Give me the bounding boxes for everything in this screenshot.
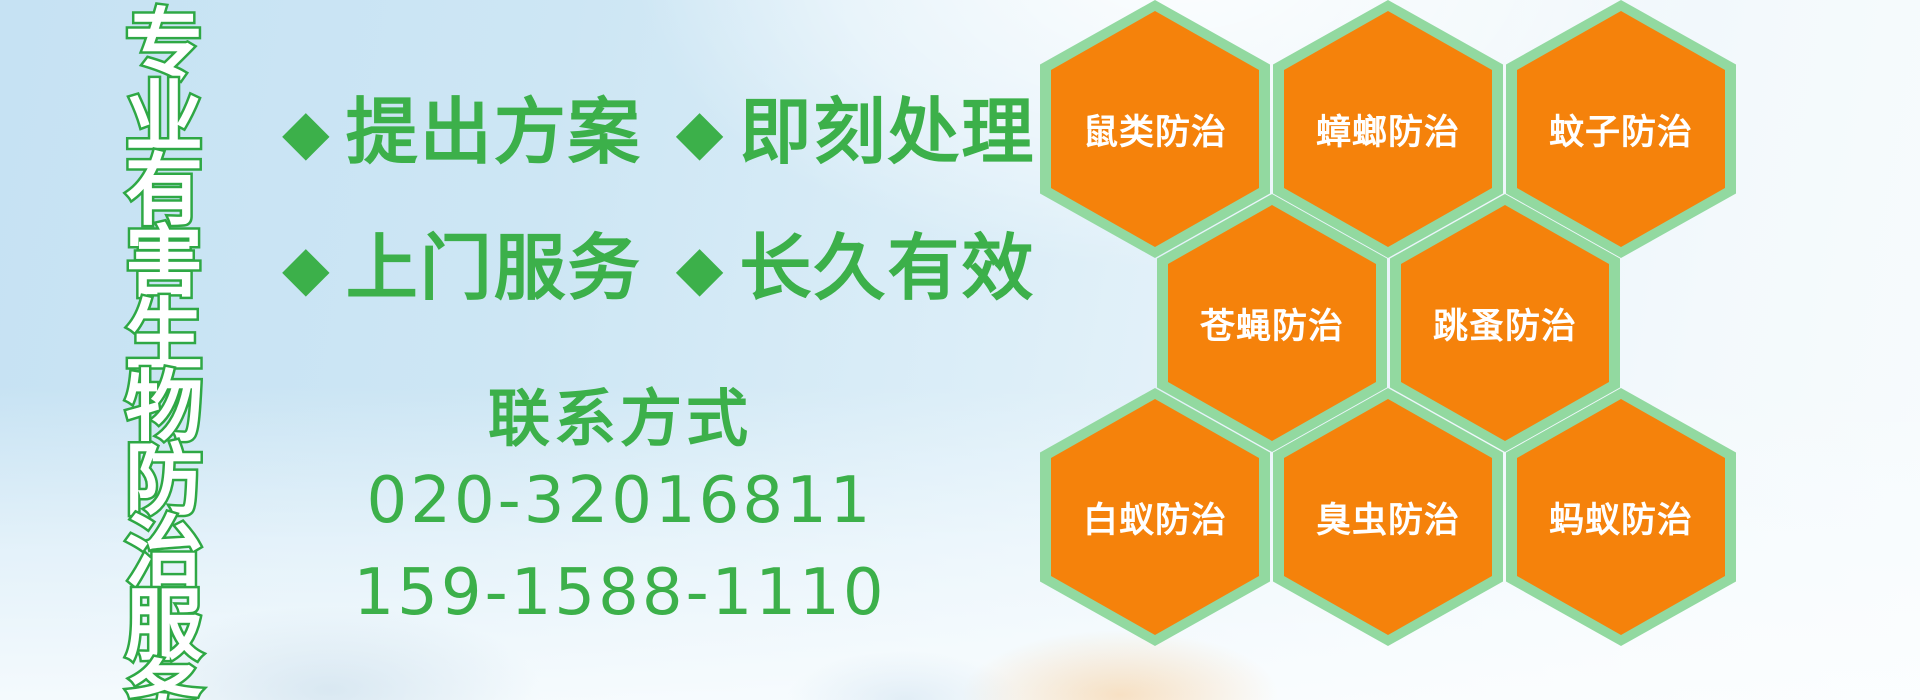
contact-block: 联系方式 020-32016811 159-1588-1110: [330, 386, 910, 635]
service-hex-label: 蟑螂防治: [1316, 104, 1460, 155]
feature-label: 上门服务: [346, 232, 642, 304]
service-hex-label: 跳蚤防治: [1433, 298, 1577, 349]
feature-label: 即刻处理: [739, 96, 1035, 168]
contact-heading: 联系方式: [330, 386, 910, 451]
diamond-bullet-icon: ◆: [676, 101, 724, 163]
service-hex-label: 臭虫防治: [1316, 492, 1460, 543]
service-hexagon-grid: 鼠类防治 蟑螂防治 蚊子防治 苍蝇防治 跳蚤防治 白蚁防治 臭虫防治: [1040, 0, 1920, 700]
feature-label: 提出方案: [346, 96, 642, 168]
service-hex-label: 苍蝇防治: [1200, 298, 1344, 349]
diamond-bullet-icon: ◆: [282, 237, 330, 299]
diamond-bullet-icon: ◆: [676, 237, 724, 299]
service-hex-label: 鼠类防治: [1083, 104, 1227, 155]
vertical-headline-char: 务: [125, 660, 203, 700]
phone-number-landline[interactable]: 020-32016811: [330, 461, 910, 543]
feature-row: ◆ 上门服务 ◆ 长久有效: [282, 232, 1035, 304]
service-hex-label: 白蚁防治: [1083, 492, 1227, 543]
service-hex-label: 蚊子防治: [1549, 104, 1693, 155]
promo-banner: 专 业 有 害 生 物 防 治 服 务 ◆ 提出方案 ◆ 即刻处理 ◆ 上门服务…: [0, 0, 1920, 700]
service-hex-label: 蚂蚁防治: [1549, 492, 1693, 543]
diamond-bullet-icon: ◆: [282, 101, 330, 163]
feature-label: 长久有效: [739, 232, 1035, 304]
feature-row: ◆ 提出方案 ◆ 即刻处理: [282, 96, 1035, 168]
vertical-headline: 专 业 有 害 生 物 防 治 服 务: [112, 8, 216, 700]
phone-number-mobile[interactable]: 159-1588-1110: [330, 553, 910, 635]
